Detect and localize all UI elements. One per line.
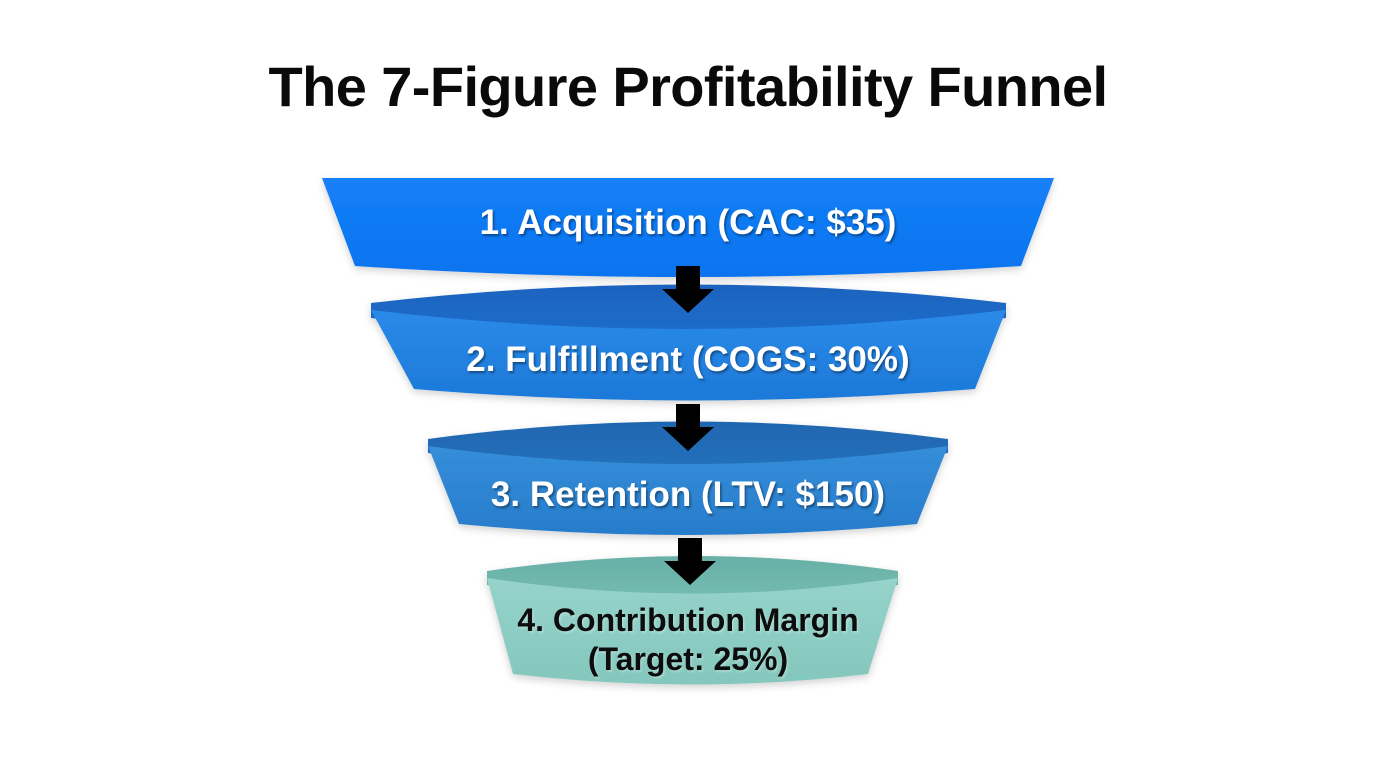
funnel-graphic [0,0,1376,768]
funnel-diagram-canvas: The 7-Figure Profitability Funnel [0,0,1376,768]
funnel-segment-1[interactable] [322,178,1054,277]
